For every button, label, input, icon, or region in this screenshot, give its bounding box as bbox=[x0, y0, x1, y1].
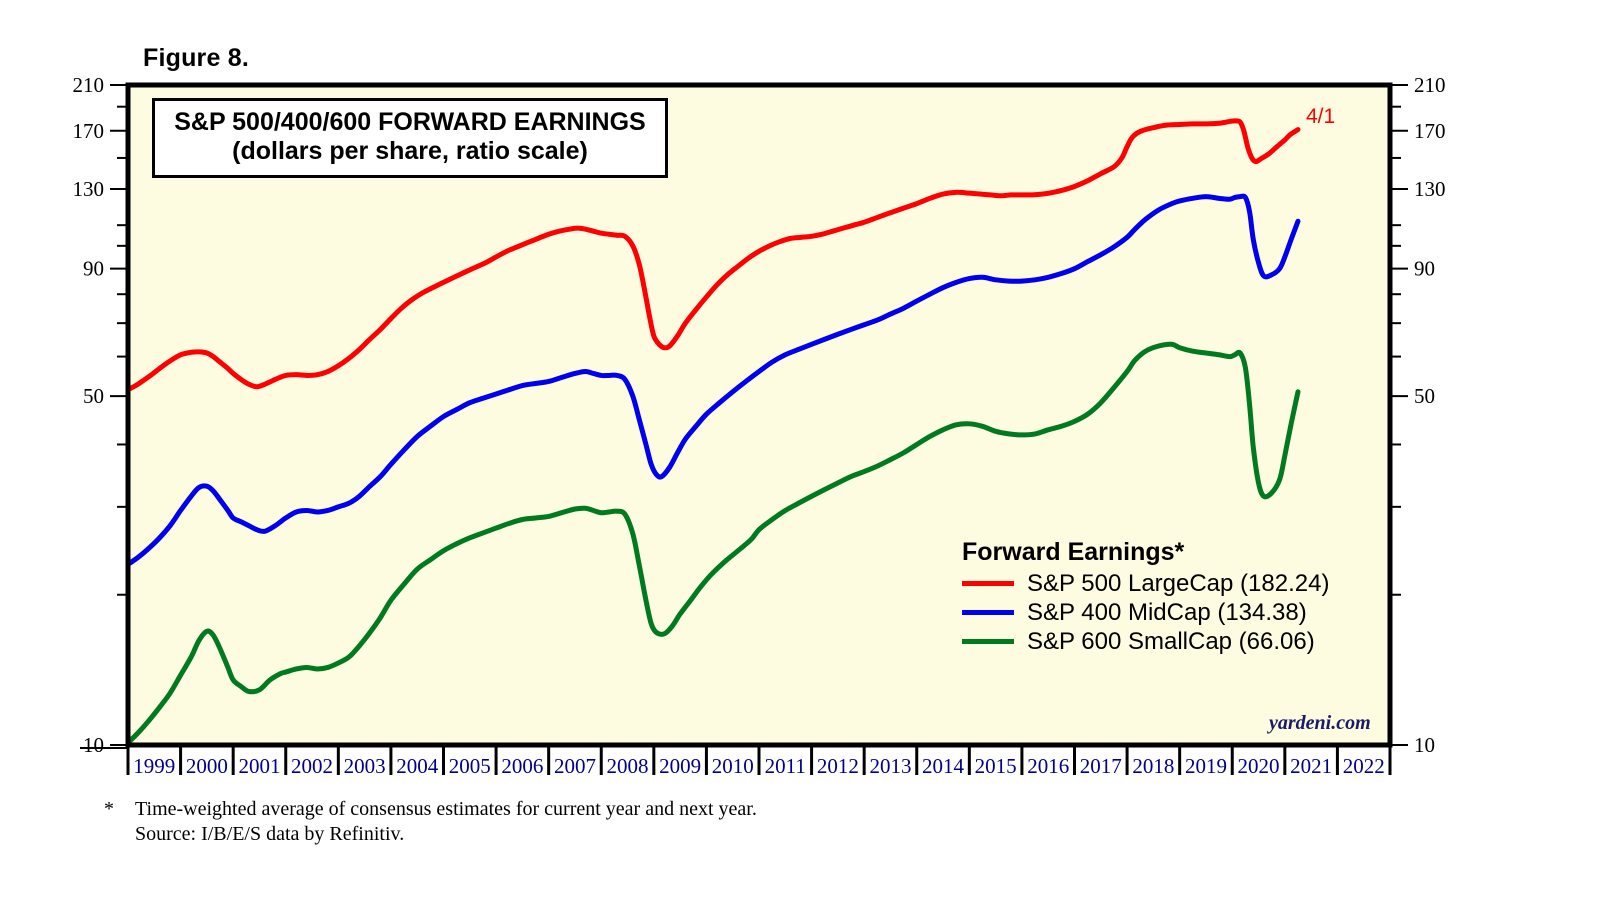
x-axis-tick-label: 2002 bbox=[291, 754, 333, 778]
legend-item-midcap: S&P 400 MidCap (134.38) bbox=[962, 598, 1329, 627]
chart-title-primary: S&P 500/400/600 FORWARD EARNINGS bbox=[161, 108, 659, 137]
legend-label-midcap: S&P 400 MidCap (134.38) bbox=[1027, 598, 1307, 627]
chart-title-secondary: (dollars per share, ratio scale) bbox=[161, 137, 659, 166]
footnote-text-1: Time-weighted average of consensus estim… bbox=[135, 797, 757, 822]
footnote-marker: * bbox=[104, 797, 135, 822]
legend-swatch-smallcap bbox=[962, 639, 1014, 644]
footnotes: * Time-weighted average of consensus est… bbox=[104, 797, 757, 847]
watermark-yardeni: yardeni.com bbox=[1269, 712, 1371, 735]
legend-label-smallcap: S&P 600 SmallCap (66.06) bbox=[1027, 627, 1315, 656]
x-axis-tick-label: 2016 bbox=[1027, 754, 1069, 778]
x-axis-tick-label: 2008 bbox=[607, 754, 649, 778]
y-axis-tick-label: 210 bbox=[73, 73, 105, 97]
x-axis-tick-label: 2020 bbox=[1238, 754, 1280, 778]
x-axis-tick-label: 2004 bbox=[396, 754, 439, 778]
x-axis-tick-label: 1999 bbox=[133, 754, 175, 778]
x-axis-tick-label: 2003 bbox=[344, 754, 386, 778]
x-axis-tick-label: 2005 bbox=[449, 754, 491, 778]
x-axis-tick-label: 2018 bbox=[1132, 754, 1174, 778]
chart-legend: Forward Earnings* S&P 500 LargeCap (182.… bbox=[962, 538, 1329, 656]
x-axis-tick-label: 2012 bbox=[817, 754, 859, 778]
x-axis-tick-label: 2001 bbox=[238, 754, 280, 778]
footnote-line-2: Source: I/B/E/S data by Refinitiv. bbox=[104, 822, 757, 847]
x-axis-tick-label: 2006 bbox=[501, 754, 543, 778]
y-axis-tick-label: 10 bbox=[83, 733, 104, 757]
legend-title: Forward Earnings* bbox=[962, 538, 1329, 566]
legend-item-largecap: S&P 500 LargeCap (182.24) bbox=[962, 569, 1329, 598]
y-axis-tick-label: 10 bbox=[1414, 733, 1435, 757]
y-axis-tick-label: 90 bbox=[83, 257, 104, 281]
x-axis-tick-label: 2013 bbox=[869, 754, 911, 778]
x-axis-tick-label: 2014 bbox=[922, 754, 965, 778]
legend-swatch-midcap bbox=[962, 610, 1014, 615]
legend-item-smallcap: S&P 600 SmallCap (66.06) bbox=[962, 627, 1329, 656]
figure-container: Figure 8. 210170130905010210170130905010… bbox=[0, 0, 1610, 910]
legend-label-largecap: S&P 500 LargeCap (182.24) bbox=[1027, 569, 1329, 598]
x-axis-tick-label: 2022 bbox=[1343, 754, 1385, 778]
x-axis-tick-label: 2009 bbox=[659, 754, 701, 778]
x-axis-tick-label: 2010 bbox=[712, 754, 754, 778]
y-axis-tick-label: 130 bbox=[1414, 177, 1446, 201]
y-axis-tick-label: 170 bbox=[73, 119, 105, 143]
chart-title-box: S&P 500/400/600 FORWARD EARNINGS (dollar… bbox=[152, 98, 668, 178]
y-axis-tick-label: 50 bbox=[83, 384, 104, 408]
x-axis-tick-label: 2007 bbox=[554, 754, 596, 778]
y-axis-tick-label: 90 bbox=[1414, 257, 1435, 281]
y-axis-tick-label: 50 bbox=[1414, 384, 1435, 408]
x-axis-tick-label: 2017 bbox=[1080, 754, 1122, 778]
x-axis-tick-label: 2011 bbox=[765, 754, 806, 778]
x-axis-tick-label: 2000 bbox=[186, 754, 228, 778]
y-axis-tick-label: 170 bbox=[1414, 119, 1446, 143]
y-axis-tick-label: 130 bbox=[73, 177, 105, 201]
footnote-line-1: * Time-weighted average of consensus est… bbox=[104, 797, 757, 822]
series-end-date-label: 4/1 bbox=[1306, 105, 1335, 129]
footnote-text-2: Source: I/B/E/S data by Refinitiv. bbox=[135, 823, 404, 845]
legend-swatch-largecap bbox=[962, 581, 1014, 586]
y-axis-tick-label: 210 bbox=[1414, 73, 1446, 97]
x-axis-tick-label: 2015 bbox=[975, 754, 1017, 778]
x-axis-tick-label: 2021 bbox=[1290, 754, 1332, 778]
x-axis-tick-label: 2019 bbox=[1185, 754, 1227, 778]
